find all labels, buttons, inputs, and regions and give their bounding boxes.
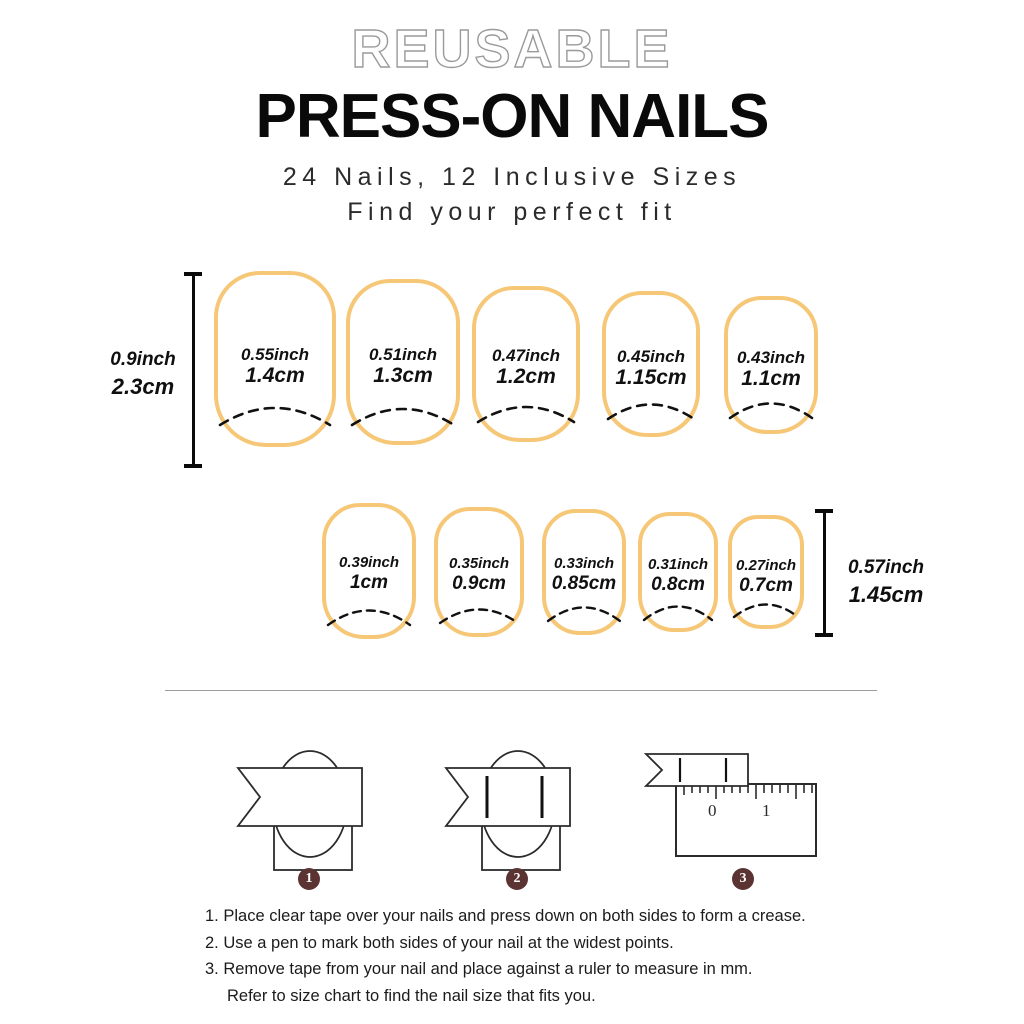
step-badge-3: 3	[732, 868, 754, 890]
nail-swatch-9: 0.31inch 0.8cm	[638, 512, 718, 632]
height-bracket-row2-label: 0.57inch 1.45cm	[836, 556, 936, 609]
bracket-inch-value: 0.57inch	[836, 556, 936, 581]
nail-inch-value: 0.27inch	[732, 558, 800, 575]
nail-swatch-8: 0.33inch 0.85cm	[542, 509, 626, 635]
nail-swatch-6: 0.39inch 1cm	[322, 503, 416, 639]
nail-cm-value: 0.9cm	[438, 573, 520, 594]
bracket-stem	[823, 509, 826, 637]
step-badge-2: 2	[506, 868, 528, 890]
nail-size-label-10: 0.27inch 0.7cm	[732, 558, 800, 596]
nail-inch-value: 0.33inch	[546, 556, 622, 573]
step-diagram-2: 2	[440, 726, 620, 886]
step-badge-1: 1	[298, 868, 320, 890]
ruler-tick-label-0: 0	[708, 801, 717, 820]
nail-cm-value: 0.8cm	[642, 574, 714, 595]
instruction-line-4: Refer to size chart to find the nail siz…	[205, 983, 905, 1010]
step2-illustration-icon	[440, 726, 620, 886]
nail-size-label-6: 0.39inch 1cm	[326, 555, 412, 593]
nail-cm-value: 0.7cm	[732, 575, 800, 596]
instruction-line-3: 3. Remove tape from your nail and place …	[205, 956, 905, 983]
nail-inch-value: 0.35inch	[438, 556, 520, 573]
nail-swatch-10: 0.27inch 0.7cm	[728, 515, 804, 629]
step-diagram-1: 1	[232, 726, 412, 886]
step1-illustration-icon	[232, 726, 412, 886]
nail-size-label-9: 0.31inch 0.8cm	[642, 557, 714, 595]
nail-cm-value: 0.85cm	[546, 573, 622, 594]
section-divider	[165, 690, 877, 691]
infographic-page: REUSABLE PRESS-ON NAILS 24 Nails, 12 Inc…	[0, 0, 1024, 1024]
instruction-line-2: 2. Use a pen to mark both sides of your …	[205, 930, 905, 957]
step-diagram-3: 0 1 3	[640, 740, 840, 890]
instructions-list: 1. Place clear tape over your nails and …	[205, 903, 905, 1010]
nail-inch-value: 0.31inch	[642, 557, 714, 574]
ruler-tick-label-1: 1	[762, 801, 771, 820]
nail-swatch-7: 0.35inch 0.9cm	[434, 507, 524, 637]
bracket-cap-bottom	[815, 633, 833, 637]
nail-inch-value: 0.39inch	[326, 555, 412, 572]
bracket-cap-top	[815, 509, 833, 513]
nail-size-label-8: 0.33inch 0.85cm	[546, 556, 622, 594]
nail-cm-value: 1cm	[326, 572, 412, 593]
nail-size-label-7: 0.35inch 0.9cm	[438, 556, 520, 594]
instruction-line-1: 1. Place clear tape over your nails and …	[205, 903, 905, 930]
bracket-cm-value: 1.45cm	[836, 581, 936, 610]
height-bracket-row2	[815, 509, 833, 637]
